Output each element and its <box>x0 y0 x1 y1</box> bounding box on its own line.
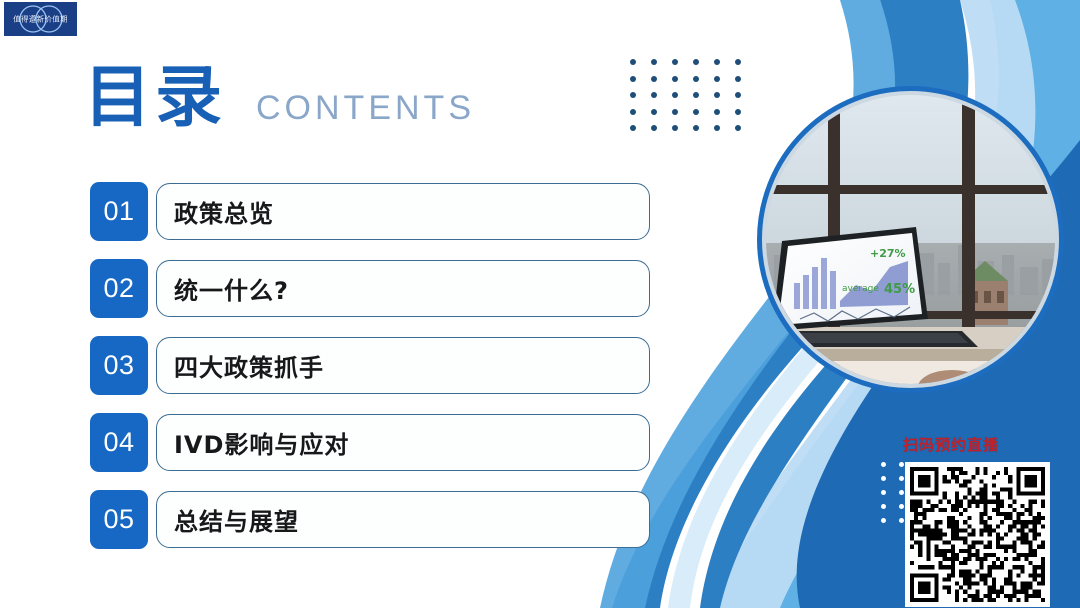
dot <box>881 518 886 523</box>
dot <box>672 125 678 131</box>
dot <box>651 125 657 131</box>
contents-item-box[interactable]: 政策总览 <box>156 183 650 240</box>
dot <box>693 109 699 115</box>
dot <box>630 59 636 65</box>
page-title-cn: 目录 <box>84 64 226 131</box>
contents-item-number: 04 <box>90 413 148 472</box>
dot <box>693 92 699 98</box>
qr-code-image <box>910 467 1045 602</box>
dot <box>651 59 657 65</box>
dot <box>714 109 720 115</box>
contents-item-number: 01 <box>90 182 148 241</box>
dot <box>881 504 886 509</box>
dot <box>630 125 636 131</box>
dot <box>899 476 904 481</box>
dot <box>881 462 886 467</box>
contents-item-05[interactable]: 05总结与展望 <box>90 490 650 549</box>
logo-text: 值得遵新价值期 <box>13 14 68 25</box>
dot <box>714 92 720 98</box>
page-title: 目录 CONTENTS <box>84 64 475 131</box>
dot <box>630 92 636 98</box>
qr-code[interactable] <box>905 462 1050 607</box>
photo-illustration: +27% average 45% <box>766 95 1055 384</box>
contents-item-box[interactable]: 总结与展望 <box>156 491 650 548</box>
dot <box>651 92 657 98</box>
contents-item-number: 03 <box>90 336 148 395</box>
dot <box>672 109 678 115</box>
dot <box>881 490 886 495</box>
contents-item-box[interactable]: 统一什么? <box>156 260 650 317</box>
contents-item-03[interactable]: 03四大政策抓手 <box>90 336 650 395</box>
dot-grid-icon <box>630 59 756 142</box>
contents-item-04[interactable]: 04IVD影响与应对 <box>90 413 650 472</box>
dot <box>672 59 678 65</box>
dot <box>651 76 657 82</box>
dot <box>693 125 699 131</box>
dot <box>714 59 720 65</box>
dot <box>693 59 699 65</box>
photo-annotation-45: 45% <box>884 282 915 297</box>
contents-item-number: 05 <box>90 490 148 549</box>
dot <box>672 76 678 82</box>
dot <box>899 462 904 467</box>
dot <box>651 109 657 115</box>
contents-item-number: 02 <box>90 259 148 318</box>
qr-caption: 扫码预约直播 <box>903 434 999 455</box>
contents-item-label: 四大政策抓手 <box>174 348 324 383</box>
contents-item-label: 总结与展望 <box>174 502 299 537</box>
contents-item-01[interactable]: 01政策总览 <box>90 182 650 241</box>
contents-item-02[interactable]: 02统一什么? <box>90 259 650 318</box>
photo-inner: +27% average 45% <box>766 95 1055 384</box>
dot <box>735 109 741 115</box>
dot <box>735 59 741 65</box>
dot <box>714 76 720 82</box>
photo-annotation-27: +27% <box>870 247 906 260</box>
dot <box>899 490 904 495</box>
company-logo[interactable]: 值得遵新价值期 <box>4 2 77 36</box>
contents-item-box[interactable]: 四大政策抓手 <box>156 337 650 394</box>
dot <box>630 109 636 115</box>
dot <box>899 504 904 509</box>
dot <box>735 92 741 98</box>
dot <box>714 125 720 131</box>
laptop-office-photo: +27% average 45% <box>757 86 1064 393</box>
dot <box>881 476 886 481</box>
contents-item-label: IVD影响与应对 <box>174 425 349 460</box>
dot <box>735 76 741 82</box>
contents-list: 01政策总览02统一什么?03四大政策抓手04IVD影响与应对05总结与展望 <box>90 182 650 549</box>
dot <box>735 125 741 131</box>
page-title-en: CONTENTS <box>256 91 475 131</box>
dot <box>630 76 636 82</box>
contents-item-label: 政策总览 <box>174 194 274 229</box>
dot <box>672 92 678 98</box>
contents-item-label: 统一什么? <box>174 271 289 306</box>
dot <box>899 518 904 523</box>
photo-annotation-average: average <box>842 284 879 294</box>
contents-item-box[interactable]: IVD影响与应对 <box>156 414 650 471</box>
slide-canvas: 值得遵新价值期 目录 CONTENTS 01政策总览02统一什么?03四大政策抓… <box>0 0 1080 608</box>
dot <box>693 76 699 82</box>
